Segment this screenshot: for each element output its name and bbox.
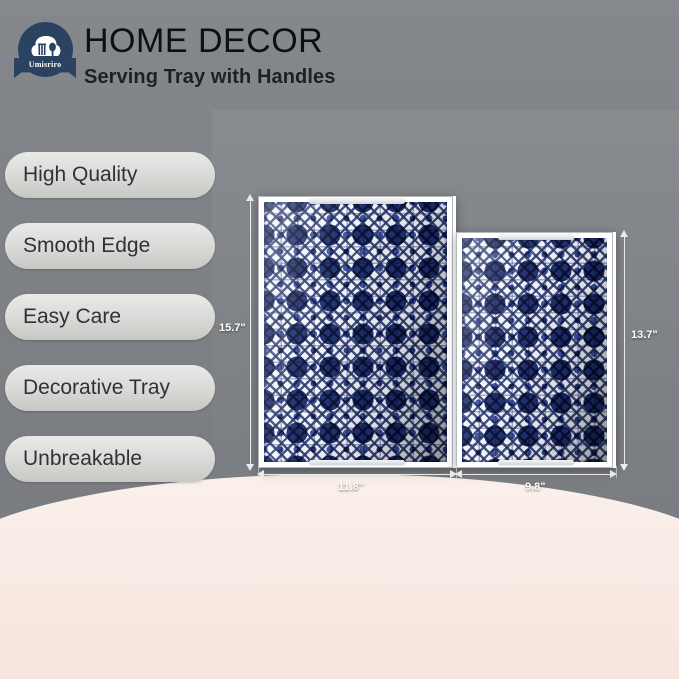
- brand-banner-text: Umisriro: [29, 60, 62, 69]
- small-height-dimension-line: [624, 236, 625, 464]
- feature-list: High Quality Smooth Edge Easy Care Decor…: [5, 152, 215, 507]
- dimension-guide-tick: [258, 466, 259, 478]
- small-height-arrow-down: [620, 464, 628, 471]
- feature-pill: High Quality: [5, 152, 215, 198]
- tray-handle-cutout: [498, 235, 575, 240]
- feature-pill: Easy Care: [5, 294, 215, 340]
- tray-handle-cutout: [498, 460, 575, 465]
- large-width-dimension-line: [264, 474, 450, 475]
- dimension-guide-tick: [616, 466, 617, 478]
- large-tray-pattern-area: [264, 202, 450, 462]
- small-tray-width-label: 9.8": [525, 481, 546, 493]
- large-tray-width-label: 11.8": [338, 481, 364, 493]
- tray-handle-cutout: [309, 199, 404, 204]
- page-subtitle: Serving Tray with Handles: [84, 66, 335, 89]
- title-block: HOME DECOR Serving Tray with Handles: [84, 24, 335, 89]
- large-height-dimension-line: [250, 200, 251, 464]
- feature-label: High Quality: [23, 163, 137, 187]
- large-height-arrow-up: [246, 194, 254, 201]
- small-serving-tray: [456, 232, 616, 468]
- feature-pill: Decorative Tray: [5, 365, 215, 411]
- feature-pill: Unbreakable: [5, 436, 215, 482]
- small-tray-height-label: 13.7": [631, 329, 658, 341]
- feature-label: Easy Care: [23, 305, 121, 329]
- small-height-arrow-up: [620, 230, 628, 237]
- infographic-canvas: Umisriro HOME DECOR Serving Tray with Ha…: [0, 0, 679, 679]
- tile-pattern: [264, 202, 450, 462]
- small-width-dimension-line: [462, 474, 610, 475]
- large-serving-tray: [258, 196, 456, 468]
- feature-label: Decorative Tray: [23, 376, 170, 400]
- large-tray-height-label: 15.7": [219, 322, 246, 334]
- feature-label: Unbreakable: [23, 447, 142, 471]
- page-title: HOME DECOR: [84, 24, 335, 60]
- large-height-arrow-down: [246, 464, 254, 471]
- small-tray-pattern-area: [462, 238, 610, 462]
- brand-logo: Umisriro: [14, 22, 76, 92]
- feature-pill: Smooth Edge: [5, 223, 215, 269]
- tray-handle-cutout: [309, 460, 404, 465]
- dimension-guide-tick: [456, 466, 457, 478]
- header: Umisriro HOME DECOR Serving Tray with Ha…: [0, 0, 679, 110]
- feature-label: Smooth Edge: [23, 234, 150, 258]
- tile-pattern: [462, 238, 610, 462]
